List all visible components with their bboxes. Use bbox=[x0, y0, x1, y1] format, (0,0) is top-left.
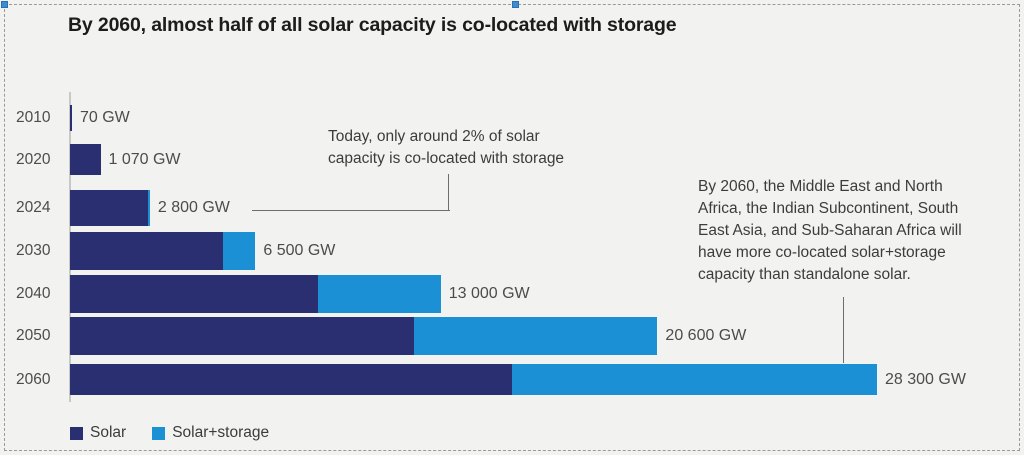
stacked-bar-2020[interactable] bbox=[70, 144, 101, 175]
stacked-bar-2024[interactable] bbox=[70, 190, 150, 226]
annotation-2060: By 2060, the Middle East and North Afric… bbox=[698, 176, 1008, 286]
legend-swatch-solar-storage bbox=[152, 427, 165, 440]
leader-line-2024-vertical bbox=[448, 174, 449, 211]
y-axis-tick-label-2060: 2060 bbox=[16, 371, 50, 389]
stacked-bar-2030[interactable] bbox=[70, 232, 255, 270]
bar-segment-solar-storage-2060[interactable] bbox=[512, 364, 877, 395]
stacked-bar-2050[interactable] bbox=[70, 317, 657, 355]
chart-legend: Solar Solar+storage bbox=[70, 424, 269, 442]
bar-value-label-2060: 28 300 GW bbox=[885, 371, 966, 389]
y-axis-tick-label-2040: 2040 bbox=[16, 285, 50, 303]
annotation-2024-line-0: Today, only around 2% of solar bbox=[328, 126, 628, 148]
stacked-bar-2040[interactable] bbox=[70, 275, 441, 313]
annotation-2024: Today, only around 2% of solar capacity … bbox=[328, 126, 628, 170]
bar-value-label-2020: 1 070 GW bbox=[109, 151, 181, 169]
bar-row: 205020 600 GW bbox=[0, 317, 1024, 355]
annotation-2060-line-2: East Asia, and Sub-Saharan Africa will bbox=[698, 220, 1008, 242]
y-axis-tick-label-2024: 2024 bbox=[16, 199, 50, 217]
y-axis-tick-label-2020: 2020 bbox=[16, 151, 50, 169]
leader-line-2060-vertical bbox=[843, 297, 844, 363]
y-axis-tick-label-2050: 2050 bbox=[16, 327, 50, 345]
bar-segment-solar-2060[interactable] bbox=[70, 364, 512, 395]
bar-segment-solar-2024[interactable] bbox=[70, 190, 148, 226]
annotation-2024-line-1: capacity is co-located with storage bbox=[328, 148, 628, 170]
bar-value-label-2050: 20 600 GW bbox=[665, 327, 746, 345]
legend-label-solar: Solar bbox=[90, 424, 126, 442]
y-axis-tick-label-2030: 2030 bbox=[16, 242, 50, 260]
legend-item-solar-storage[interactable]: Solar+storage bbox=[152, 424, 269, 442]
legend-item-solar[interactable]: Solar bbox=[70, 424, 126, 442]
bar-segment-solar-2030[interactable] bbox=[70, 232, 223, 270]
legend-label-solar-storage: Solar+storage bbox=[172, 424, 269, 442]
bar-value-label-2024: 2 800 GW bbox=[158, 199, 230, 217]
stacked-bar-2010[interactable] bbox=[70, 105, 72, 131]
leader-line-2024-horizontal bbox=[252, 210, 450, 211]
bar-row: 206028 300 GW bbox=[0, 364, 1024, 395]
y-axis-tick-label-2010: 2010 bbox=[16, 109, 50, 127]
bar-value-label-2030: 6 500 GW bbox=[263, 242, 335, 260]
annotation-2060-line-3: have more co-located solar+storage bbox=[698, 242, 1008, 264]
bar-segment-solar-storage-2040[interactable] bbox=[318, 275, 441, 313]
bar-segment-solar-2010[interactable] bbox=[70, 105, 72, 131]
bar-segment-solar-storage-2050[interactable] bbox=[414, 317, 658, 355]
chart-canvas: By 2060, almost half of all solar capaci… bbox=[0, 0, 1024, 455]
bar-value-label-2010: 70 GW bbox=[80, 109, 130, 127]
annotation-2060-line-4: capacity than standalone solar. bbox=[698, 264, 1008, 286]
annotation-2060-line-1: Africa, the Indian Subcontinent, South bbox=[698, 198, 1008, 220]
annotation-2060-line-0: By 2060, the Middle East and North bbox=[698, 176, 1008, 198]
bar-segment-solar-storage-2030[interactable] bbox=[223, 232, 256, 270]
stacked-bar-2060[interactable] bbox=[70, 364, 877, 395]
bar-segment-solar-2050[interactable] bbox=[70, 317, 414, 355]
bar-segment-solar-2040[interactable] bbox=[70, 275, 318, 313]
legend-swatch-solar bbox=[70, 427, 83, 440]
bar-segment-solar-2020[interactable] bbox=[70, 144, 101, 175]
bar-value-label-2040: 13 000 GW bbox=[449, 285, 530, 303]
bar-segment-solar-storage-2024[interactable] bbox=[148, 190, 150, 226]
